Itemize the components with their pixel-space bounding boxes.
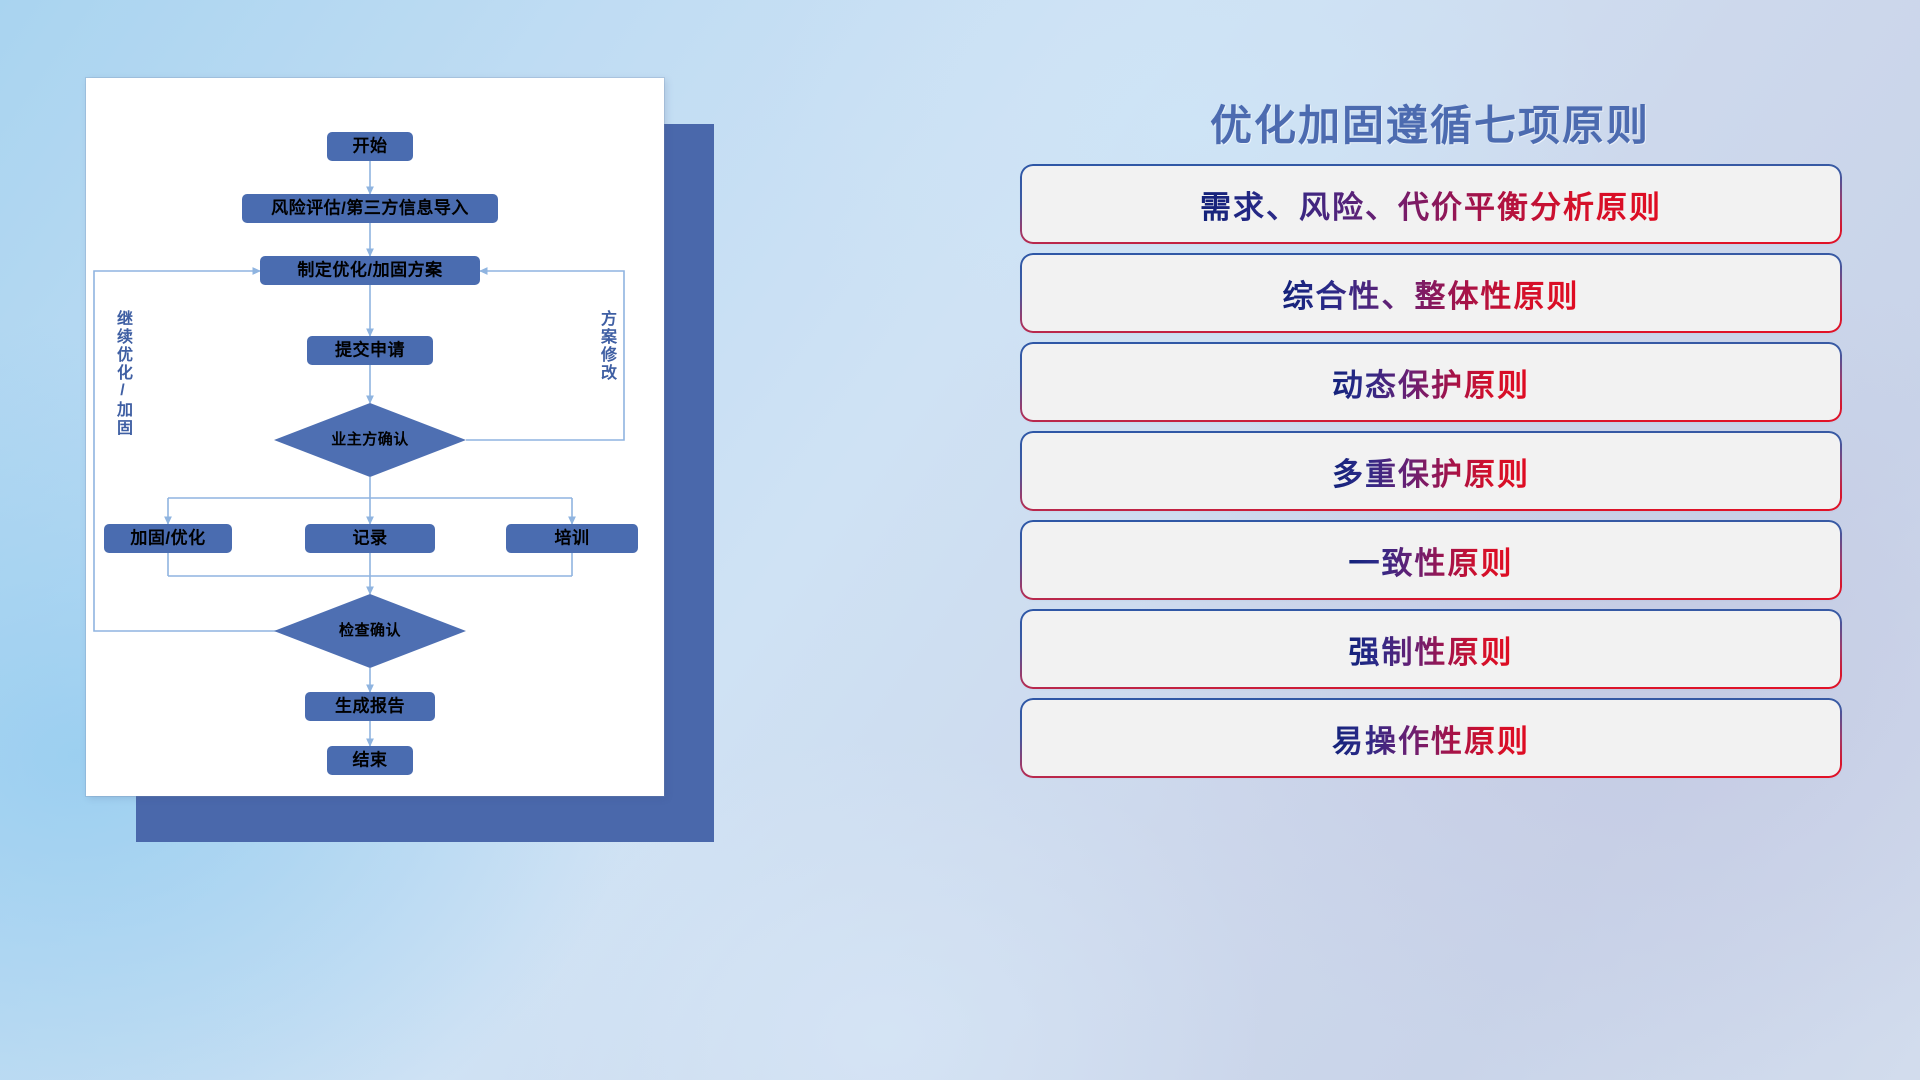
flow-label-start: 开始 xyxy=(353,135,388,155)
page-title: 优化加固遵循七项原则 xyxy=(1020,92,1840,153)
flow-label-end: 结束 xyxy=(353,749,388,769)
flowchart-connectors: 开始 风险评估/第三方信息导入 制定优化/加固方案 提交申请 业主方确认 加固/… xyxy=(86,78,664,796)
flow-edge-label-continue-optimize: 继续优化/加固 xyxy=(114,310,130,437)
principles-list: 需求、风险、代价平衡分析原则 综合性、整体性原则 动态保护原则 多重保护原则 一… xyxy=(1022,166,1840,789)
principle-card-5[interactable]: 一致性原则 xyxy=(1022,522,1840,598)
principle-label: 易操作性原则 xyxy=(1332,716,1530,761)
flow-label-owner-confirm: 业主方确认 xyxy=(331,430,409,448)
flow-label-check: 检查确认 xyxy=(339,621,402,639)
principle-label: 需求、风险、代价平衡分析原则 xyxy=(1200,182,1662,227)
flowchart-card: 开始 风险评估/第三方信息导入 制定优化/加固方案 提交申请 业主方确认 加固/… xyxy=(86,78,664,796)
principle-card-1[interactable]: 需求、风险、代价平衡分析原则 xyxy=(1022,166,1840,242)
principle-label: 综合性、整体性原则 xyxy=(1283,271,1580,316)
flowchart-panel: 开始 风险评估/第三方信息导入 制定优化/加固方案 提交申请 业主方确认 加固/… xyxy=(86,78,664,796)
principle-label: 动态保护原则 xyxy=(1332,360,1530,405)
principle-card-2[interactable]: 综合性、整体性原则 xyxy=(1022,255,1840,331)
principle-label: 多重保护原则 xyxy=(1332,449,1530,494)
principles-pane: 优化加固遵循七项原则 需求、风险、代价平衡分析原则 综合性、整体性原则 动态保护… xyxy=(1020,70,1840,1030)
principle-card-4[interactable]: 多重保护原则 xyxy=(1022,433,1840,509)
flow-label-record: 记录 xyxy=(353,528,388,547)
principle-card-3[interactable]: 动态保护原则 xyxy=(1022,344,1840,420)
flow-edge-label-plan-revision: 方案修改 xyxy=(598,310,614,382)
flow-label-risk: 风险评估/第三方信息导入 xyxy=(271,197,469,217)
flow-label-submit: 提交申请 xyxy=(335,339,405,359)
principle-card-7[interactable]: 易操作性原则 xyxy=(1022,700,1840,776)
flow-label-train: 培训 xyxy=(555,527,590,547)
flow-label-report: 生成报告 xyxy=(335,695,405,715)
flow-label-reinforce: 加固/优化 xyxy=(129,527,205,547)
flow-label-plan: 制定优化/加固方案 xyxy=(297,259,443,279)
principle-label: 一致性原则 xyxy=(1349,538,1514,583)
principle-card-6[interactable]: 强制性原则 xyxy=(1022,611,1840,687)
principle-label: 强制性原则 xyxy=(1349,627,1514,672)
